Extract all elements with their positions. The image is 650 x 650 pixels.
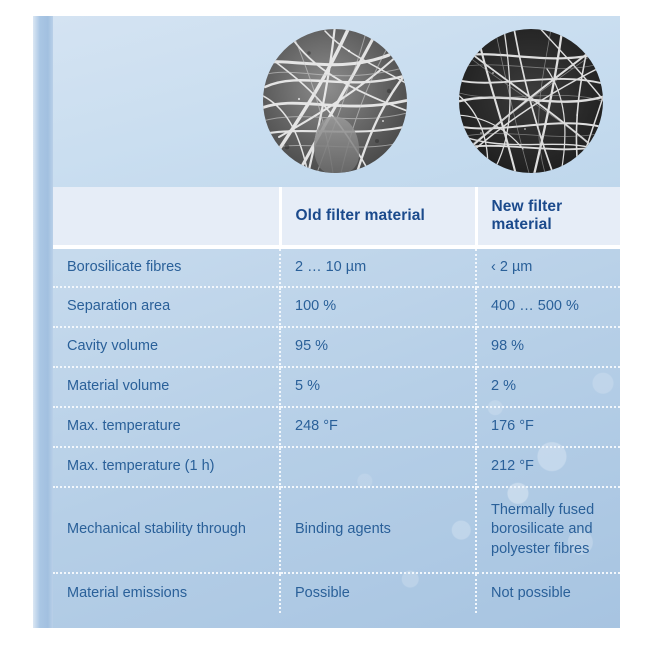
panel-content: Old filter material New filter material … [53, 16, 620, 628]
row-property-label: Max. temperature (1 h) [53, 447, 280, 487]
row-value-old: Possible [280, 573, 476, 613]
row-value-old: 5 % [280, 367, 476, 407]
row-value-old: Binding agents [280, 487, 476, 573]
table-body: Borosilicate fibres 2 … 10 µm ‹ 2 µm Sep… [53, 247, 620, 613]
table-header-row: Old filter material New filter material [53, 187, 620, 247]
row-property-label: Borosilicate fibres [53, 247, 280, 287]
old-filter-material-micrograph [263, 29, 407, 173]
row-value-new: Not possible [476, 573, 620, 613]
table-row: Cavity volume 95 % 98 % [53, 327, 620, 367]
row-property-label: Separation area [53, 287, 280, 327]
table-row: Max. temperature (1 h) 212 °F [53, 447, 620, 487]
column-header-old-filter-material: Old filter material [280, 187, 476, 247]
left-accent-strip [33, 16, 53, 628]
row-value-new: ‹ 2 µm [476, 247, 620, 287]
column-header-new-filter-material: New filter material [476, 187, 620, 247]
row-value-new: 176 °F [476, 407, 620, 447]
new-filter-material-micrograph [459, 29, 603, 173]
table-row: Material emissions Possible Not possible [53, 573, 620, 613]
row-property-label: Material volume [53, 367, 280, 407]
row-property-label: Max. temperature [53, 407, 280, 447]
row-value-old: 248 °F [280, 407, 476, 447]
row-value-new: 98 % [476, 327, 620, 367]
row-property-label: Mechanical stability through [53, 487, 280, 573]
row-value-old: 2 … 10 µm [280, 247, 476, 287]
table-row: Mechanical stability through Binding age… [53, 487, 620, 573]
table-row: Max. temperature 248 °F 176 °F [53, 407, 620, 447]
column-header-property [53, 187, 280, 247]
row-value-new: 400 … 500 % [476, 287, 620, 327]
table-row: Borosilicate fibres 2 … 10 µm ‹ 2 µm [53, 247, 620, 287]
row-value-new: Thermally fused borosilicate and polyest… [476, 487, 620, 573]
micrograph-band [53, 16, 620, 187]
infographic-panel: Old filter material New filter material … [33, 16, 620, 628]
table-header: Old filter material New filter material [53, 187, 620, 247]
row-value-new: 2 % [476, 367, 620, 407]
row-property-label: Material emissions [53, 573, 280, 613]
comparison-infographic: Old filter material New filter material … [0, 0, 650, 650]
row-value-old: 100 % [280, 287, 476, 327]
table-row: Material volume 5 % 2 % [53, 367, 620, 407]
row-value-old: 95 % [280, 327, 476, 367]
table-row: Separation area 100 % 400 … 500 % [53, 287, 620, 327]
filter-material-comparison-table: Old filter material New filter material … [53, 187, 620, 613]
row-property-label: Cavity volume [53, 327, 280, 367]
row-value-new: 212 °F [476, 447, 620, 487]
